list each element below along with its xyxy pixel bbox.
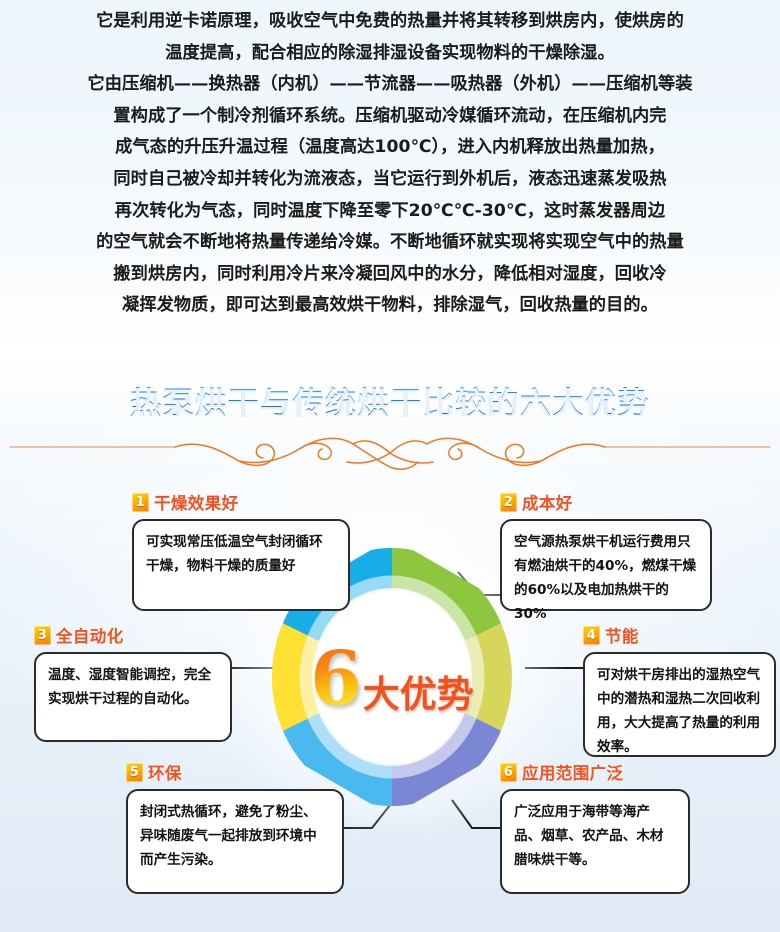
advantage-title-2: 成本好	[522, 490, 573, 514]
advantage-body-6: 广泛应用于海带等海产品、烟草、农产品、木材腊味烘干等。	[500, 789, 690, 894]
advantage-callout-1[interactable]: 1 干燥效果好 可实现常压低温空气封闭循环干燥，物料干燥的质量好	[132, 490, 350, 611]
intro-line: 它是利用逆卡诺原理，吸收空气中免费的热量并将其转移到烘房内，使烘房的	[50, 6, 730, 38]
advantage-body-2: 空气源热泵烘干机运行费用只有燃油烘干的40%，燃煤干燥的60%以及电加热烘干的3…	[500, 519, 712, 611]
advantage-caption-4: 4 节能	[583, 623, 776, 647]
advantage-title-3: 全自动化	[56, 623, 124, 647]
advantage-badge-4: 4	[583, 626, 600, 645]
advantage-badge-3: 3	[34, 626, 51, 645]
intro-line: 置构成了一个制冷剂循环系统。压缩机驱动冷媒循环流动，在压缩机内完	[50, 101, 730, 133]
advantage-body-4: 可对烘干房排出的湿热空气中的潜热和湿热二次回收利用，大大提高了热量的利用效率。	[583, 652, 776, 757]
intro-paragraph: 它是利用逆卡诺原理，吸收空气中免费的热量并将其转移到烘房内，使烘房的 温度提高，…	[50, 6, 730, 322]
advantage-callout-3[interactable]: 3 全自动化 温度、湿度智能调控，完全实现烘干过程的自动化。	[34, 623, 232, 742]
advantage-callout-5[interactable]: 5 环保 封闭式热循环，避免了粉尘、异味随废气一起排放到环境中而产生污染。	[126, 760, 344, 894]
advantage-body-5: 封闭式热循环，避免了粉尘、异味随废气一起排放到环境中而产生污染。	[126, 789, 344, 894]
advantage-title-4: 节能	[605, 623, 639, 647]
intro-line: 的空气就会不断地将热量传递给冷媒。不断地循环就实现将实现空气中的热量	[50, 227, 730, 259]
advantage-body-1: 可实现常压低温空气封闭循环干燥，物料干燥的质量好	[132, 519, 350, 611]
ornament-divider-icon	[0, 430, 780, 474]
advantage-badge-1: 1	[132, 493, 149, 512]
advantage-badge-6: 6	[500, 763, 517, 782]
advantage-caption-6: 6 应用范围广泛	[500, 760, 690, 784]
intro-line: 搬到烘房内，同时利用冷片来冷凝回风中的水分，降低相对湿度，回收冷	[50, 259, 730, 291]
advantage-caption-1: 1 干燥效果好	[132, 490, 350, 514]
advantage-caption-5: 5 环保	[126, 760, 344, 784]
advantage-title-5: 环保	[148, 760, 182, 784]
section-title: 热泵烘干与传统烘干比较的六大优势	[0, 378, 780, 423]
advantage-callout-4[interactable]: 4 节能 可对烘干房排出的湿热空气中的潜热和湿热二次回收利用，大大提高了热量的利…	[583, 623, 776, 757]
infographic-page: 它是利用逆卡诺原理，吸收空气中免费的热量并将其转移到烘房内，使烘房的 温度提高，…	[0, 0, 780, 932]
advantage-badge-2: 2	[500, 493, 517, 512]
intro-line: 成气态的升压升温过程（温度高达100℃），进入内机释放出热量加热，	[50, 132, 730, 164]
intro-line: 同时自己被冷却并转化为流液态，当它运行到外机后，液态迅速蒸发吸热	[50, 164, 730, 196]
intro-line: 再次转化为气态，同时温度下降至零下20℃℃-30℃，这时蒸发器周边	[50, 196, 730, 228]
intro-line: 温度提高，配合相应的除湿排湿设备实现物料的干燥除湿。	[50, 38, 730, 70]
advantage-body-3: 温度、湿度智能调控，完全实现烘干过程的自动化。	[34, 652, 232, 742]
intro-line: 凝挥发物质，即可达到最高效烘干物料，排除湿气，回收热量的目的。	[50, 290, 730, 322]
advantage-caption-2: 2 成本好	[500, 490, 712, 514]
advantage-badge-5: 5	[126, 763, 143, 782]
advantage-caption-3: 3 全自动化	[34, 623, 232, 647]
intro-line: 它由压缩机——换热器（内机）——节流器——吸热器（外机）——压缩机等装	[50, 69, 730, 101]
advantage-title-1: 干燥效果好	[154, 490, 239, 514]
advantage-title-6: 应用范围广泛	[522, 760, 623, 784]
advantage-callout-6[interactable]: 6 应用范围广泛 广泛应用于海带等海产品、烟草、农产品、木材腊味烘干等。	[500, 760, 690, 894]
advantage-callout-2[interactable]: 2 成本好 空气源热泵烘干机运行费用只有燃油烘干的40%，燃煤干燥的60%以及电…	[500, 490, 712, 611]
